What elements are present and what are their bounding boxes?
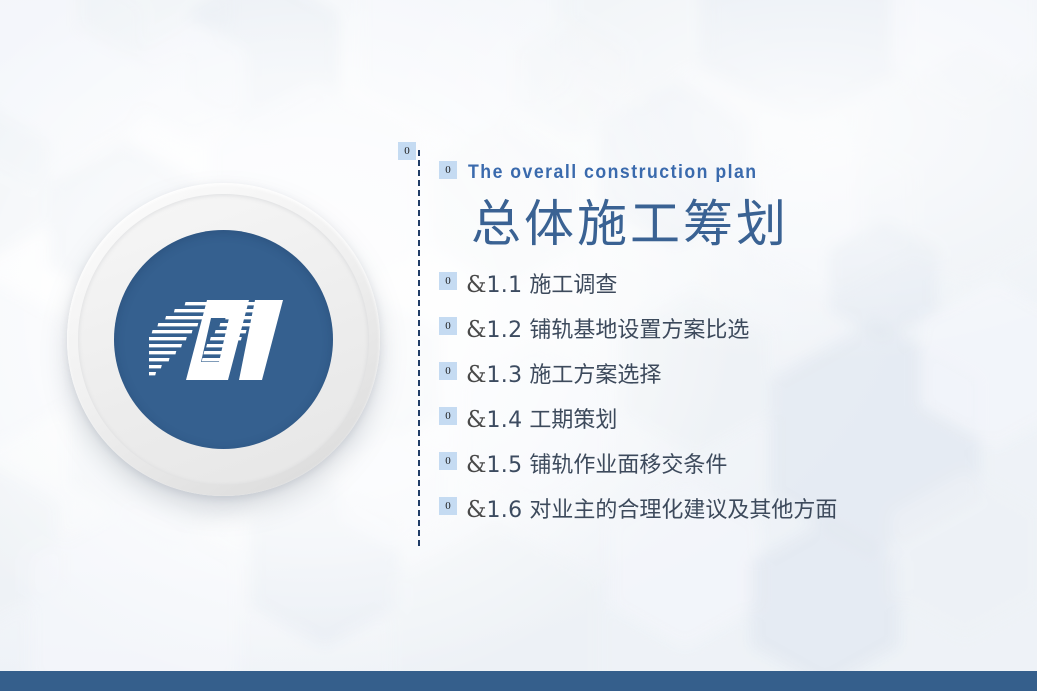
- agenda-item-3[interactable]: &1.3施工方案选择: [466, 360, 661, 391]
- section-number-badge: [67, 183, 380, 496]
- bottom-accent-bar: [0, 671, 1037, 691]
- agenda-item-number: 1.5: [486, 453, 522, 478]
- agenda-item-label: 铺轨作业面移交条件: [529, 453, 727, 478]
- badge-list-item-3: 0: [439, 362, 457, 380]
- badge-list-item-6: 0: [439, 497, 457, 515]
- badge-list-item-5: 0: [439, 452, 457, 470]
- agenda-item-label: 工期策划: [529, 408, 617, 433]
- agenda-bullet-icon: &: [466, 452, 486, 478]
- badge-eyebrow: 0: [439, 161, 457, 179]
- agenda-item-label: 施工方案选择: [529, 363, 661, 388]
- agenda-bullet-icon: &: [466, 272, 486, 298]
- agenda-bullet-icon: &: [466, 407, 486, 433]
- agenda-item-1[interactable]: &1.1施工调查: [466, 270, 617, 301]
- agenda-item-number: 1.6: [486, 498, 522, 523]
- slide-eyebrow: The overall construction plan: [468, 162, 758, 184]
- agenda-item-2[interactable]: &1.2铺轨基地设置方案比选: [466, 315, 749, 346]
- speed-zero-one-icon: [149, 288, 299, 392]
- badge-list-item-1: 0: [439, 272, 457, 290]
- agenda-item-number: 1.3: [486, 363, 522, 388]
- agenda-item-6[interactable]: &1.6对业主的合理化建议及其他方面: [466, 495, 837, 526]
- agenda-item-number: 1.1: [486, 273, 522, 298]
- presentation-slide: 0 0 The overall construction plan 总体施工筹划…: [0, 0, 1037, 691]
- agenda-item-5[interactable]: &1.5铺轨作业面移交条件: [466, 450, 727, 481]
- agenda-item-number: 1.2: [486, 318, 522, 343]
- agenda-bullet-icon: &: [466, 362, 486, 388]
- dashed-divider: [418, 150, 420, 546]
- badge-divider-top: 0: [398, 142, 416, 160]
- slide-title: 总体施工筹划: [471, 195, 789, 253]
- badge-blue-disc: [114, 230, 333, 449]
- agenda-bullet-icon: &: [466, 497, 486, 523]
- agenda-item-label: 铺轨基地设置方案比选: [529, 318, 749, 343]
- agenda-bullet-icon: &: [466, 317, 486, 343]
- badge-list-item-4: 0: [439, 407, 457, 425]
- agenda-item-number: 1.4: [486, 408, 522, 433]
- agenda-item-label: 对业主的合理化建议及其他方面: [529, 498, 837, 523]
- badge-list-item-2: 0: [439, 317, 457, 335]
- agenda-item-label: 施工调查: [529, 273, 617, 298]
- agenda-item-4[interactable]: &1.4工期策划: [466, 405, 617, 436]
